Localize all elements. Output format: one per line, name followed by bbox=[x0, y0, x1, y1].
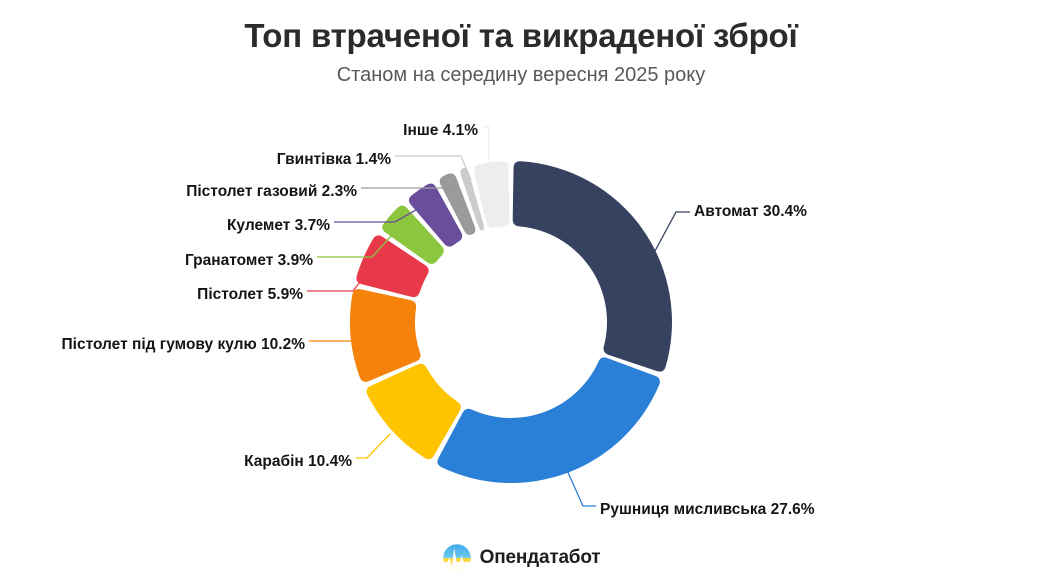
donut-slice[interactable] bbox=[513, 161, 672, 371]
slice-label: Пістолет 5.9% bbox=[197, 286, 303, 303]
slice-label: Пістолет газовий 2.3% bbox=[186, 183, 357, 200]
slice-leader-line bbox=[395, 156, 471, 180]
slice-label: Автомат 30.4% bbox=[694, 203, 807, 220]
slice-label: Інше 4.1% bbox=[403, 122, 478, 139]
slice-label: Кулемет 3.7% bbox=[227, 217, 330, 234]
donut-slice[interactable] bbox=[437, 357, 660, 483]
donut-slice[interactable] bbox=[350, 289, 421, 382]
slice-leader-line bbox=[356, 434, 390, 458]
chart-page: Топ втраченої та викраденої зброї Станом… bbox=[0, 0, 1042, 581]
brand-name: Опендатабот bbox=[480, 547, 601, 569]
slice-label: Гранатомет 3.9% bbox=[185, 252, 313, 269]
slice-label: Гвинтівка 1.4% bbox=[277, 151, 391, 168]
opendatabot-logo-svg bbox=[442, 543, 472, 573]
slice-label: Рушниця мисливська 27.6% bbox=[600, 501, 815, 518]
donut-slices-group bbox=[350, 161, 672, 483]
donut-chart-svg: Автомат 30.4%Рушниця мисливська 27.6%Кар… bbox=[0, 0, 1042, 581]
donut-chart: Автомат 30.4%Рушниця мисливська 27.6%Кар… bbox=[0, 0, 1042, 581]
slice-leader-line bbox=[566, 468, 596, 506]
slice-labels-group: Автомат 30.4%Рушниця мисливська 27.6%Кар… bbox=[62, 122, 815, 518]
opendatabot-logo-icon bbox=[442, 543, 472, 573]
slice-label: Карабін 10.4% bbox=[244, 453, 352, 470]
brand-footer: Опендатабот bbox=[0, 543, 1042, 573]
slice-label: Пістолет під гумову кулю 10.2% bbox=[62, 336, 306, 353]
